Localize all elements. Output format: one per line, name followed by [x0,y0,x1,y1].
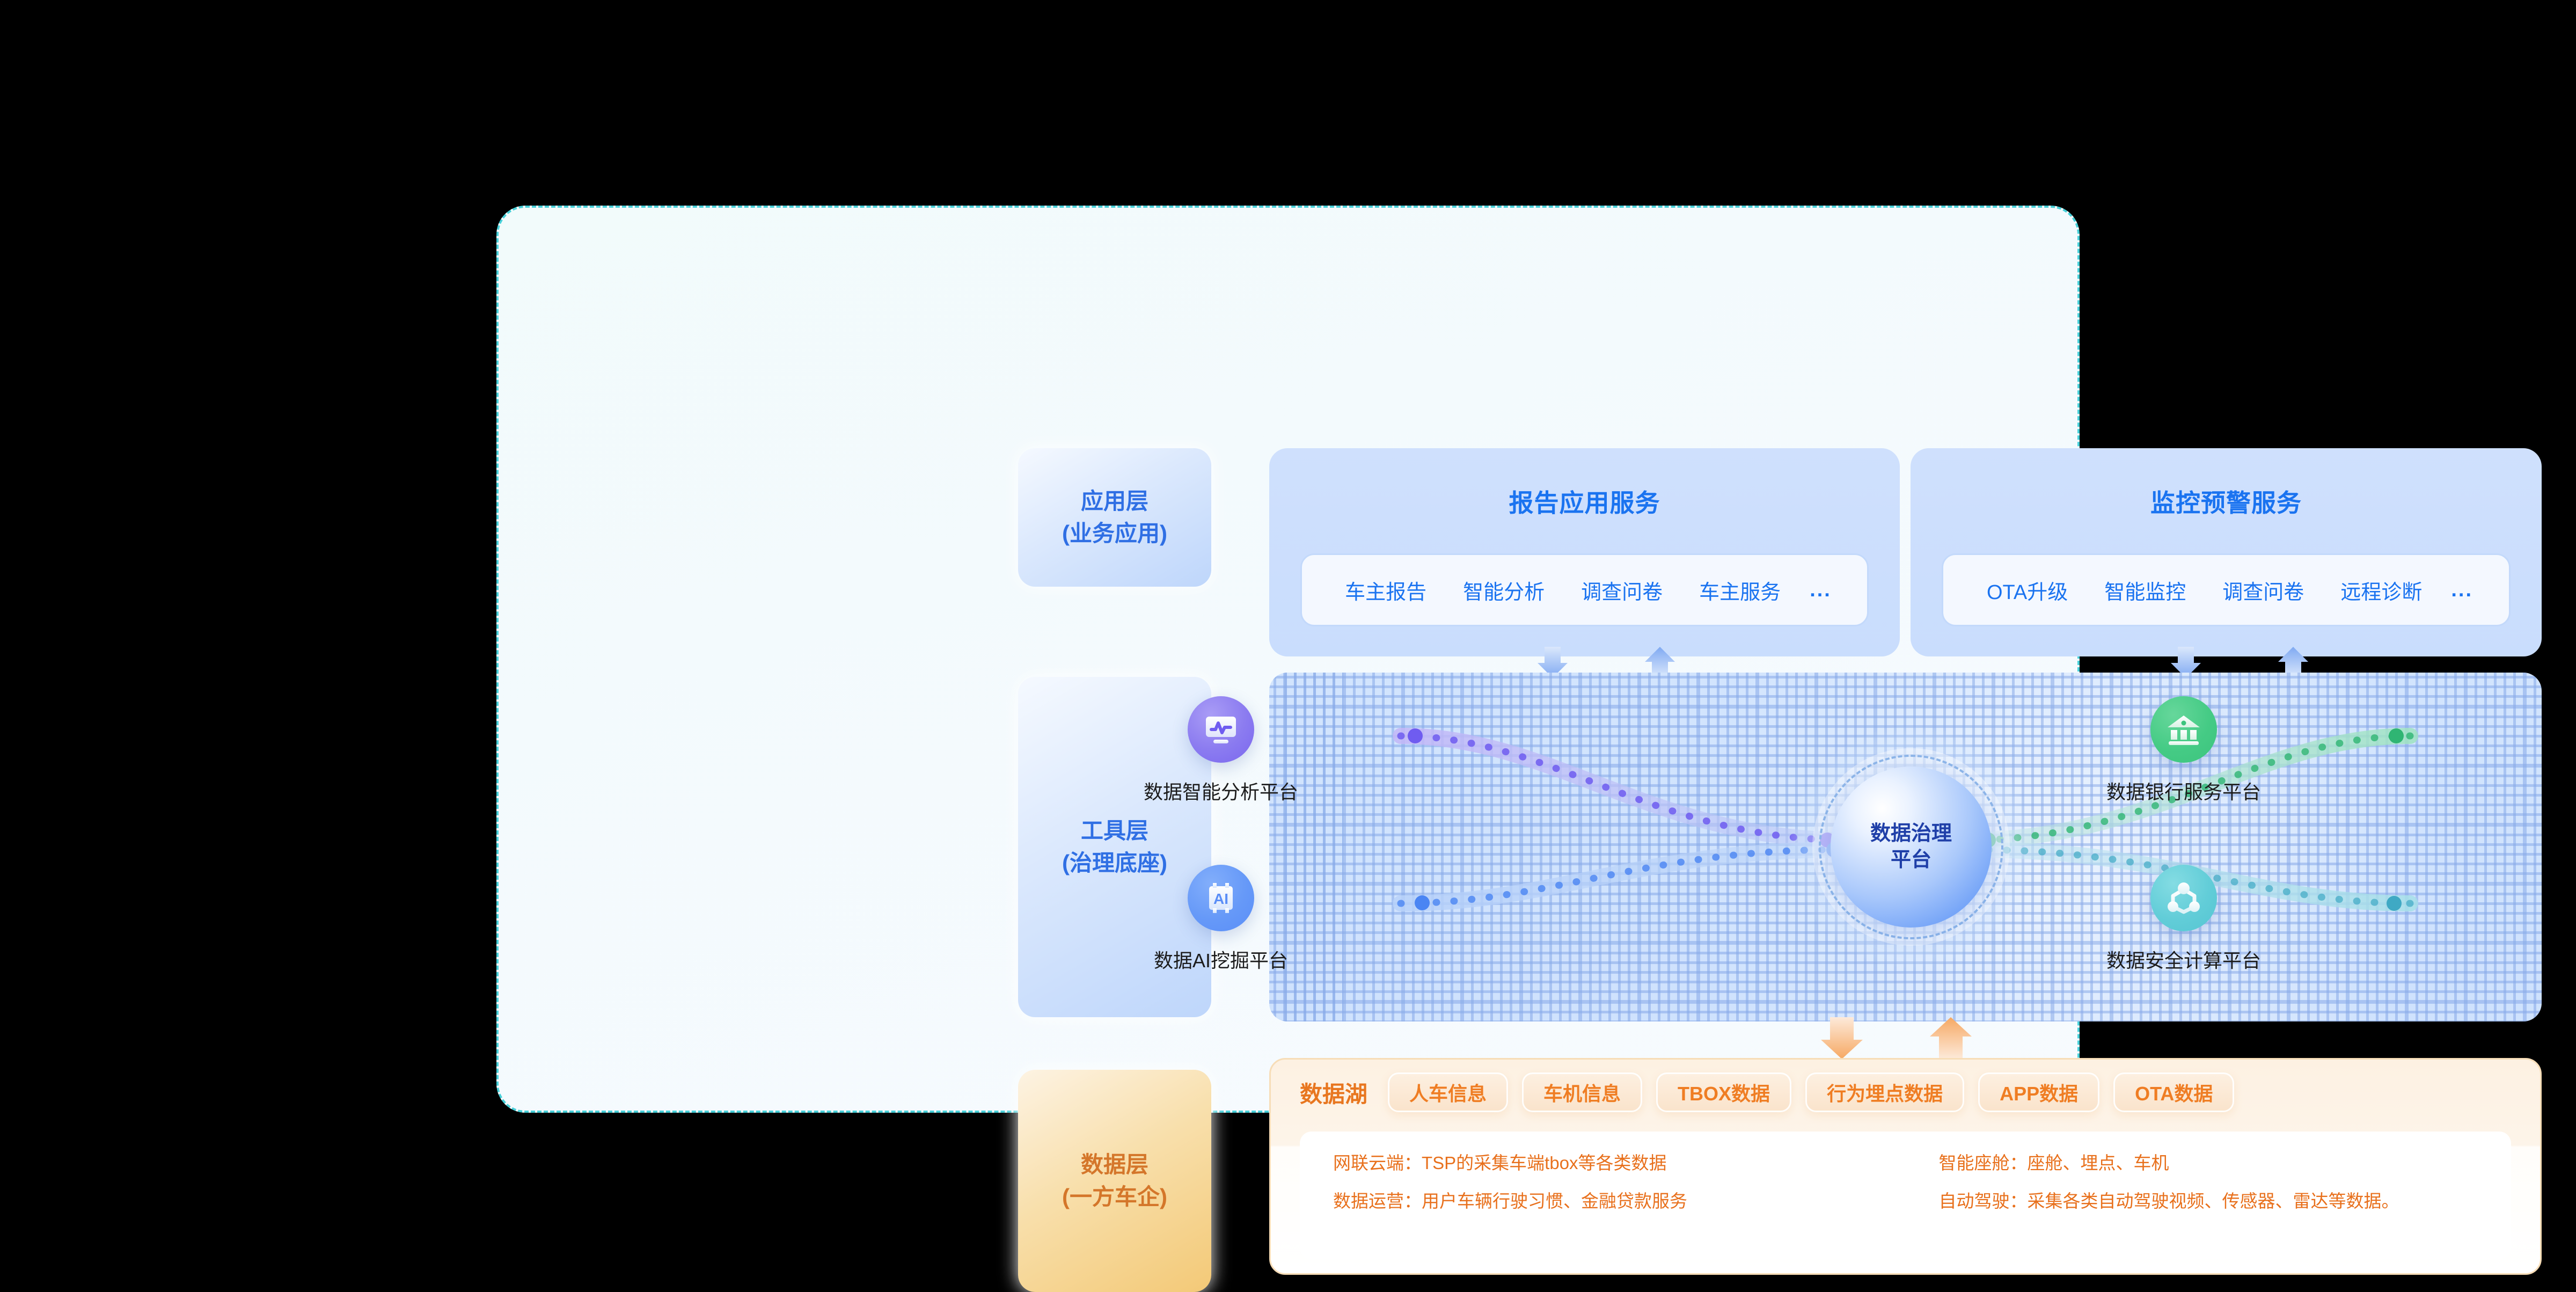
data-note: 网联云端：TSP的采集车端tbox等各类数据 [1333,1154,1906,1172]
app-items-row: 车主报告 智能分析 调查问卷 车主服务 ... [1300,553,1869,626]
data-lake-title: 数据湖 [1300,1076,1367,1109]
secure-nodes-icon [2150,865,2217,931]
layer-data-line2: (一方车企) [1062,1181,1167,1213]
data-lake-tag[interactable]: 车机信息 [1522,1072,1642,1112]
layer-chip-data[interactable]: 数据层 (一方车企) [1018,1070,1211,1292]
app-item[interactable]: 车主服务 [1681,575,1799,605]
data-lake-tag[interactable]: TBOX数据 [1656,1072,1791,1112]
data-note: 数据运营：用户车辆行驶习惯、金融贷款服务 [1333,1192,1906,1210]
core-sphere: 数据治理 平台 [1831,767,1992,928]
arrow-up-orange [1930,1017,1972,1059]
data-notes-left-column: 网联云端：TSP的采集车端tbox等各类数据 数据运营：用户车辆行驶习惯、金融贷… [1300,1154,1906,1259]
app-item[interactable]: 车主报告 [1327,575,1445,605]
app-items-row: OTA升级 智能监控 调查问卷 远程诊断 ... [1942,553,2511,626]
platform-node-label: 数据AI挖掘平台 [1154,945,1288,973]
platform-node-label: 数据银行服务平台 [2106,777,2261,805]
core-label-line2: 平台 [1891,847,1931,873]
tool-layer-panel: 数据治理 平台 [1269,673,2542,1021]
app-item[interactable]: 智能分析 [1445,575,1563,605]
app-item[interactable]: 调查问卷 [1563,575,1681,605]
platform-node-analytics[interactable]: 数据智能分析平台 [1135,696,1307,805]
app-item[interactable]: OTA升级 [1968,575,2086,605]
svg-text:AI: AI [1213,890,1228,907]
layer-data-line1: 数据层 [1081,1149,1148,1181]
ai-chip-icon: AI [1188,865,1254,931]
platform-node-label: 数据智能分析平台 [1144,777,1298,805]
data-lake-tag[interactable]: 人车信息 [1388,1072,1508,1112]
app-item-more[interactable]: ... [1799,579,1842,602]
layer-tool-line1: 工具层 [1081,815,1148,847]
app-item[interactable]: 调查问卷 [2204,575,2322,605]
connector-arrows-tool-data [1269,1017,2542,1060]
data-lake-tag[interactable]: APP数据 [1978,1072,2099,1112]
platform-node-label: 数据安全计算平台 [2106,945,2261,973]
data-note: 自动驾驶：采集各类自动驾驶视频、传感器、雷达等数据。 [1939,1192,2512,1210]
arrow-down-orange [1821,1017,1863,1059]
data-lake-tag[interactable]: 行为埋点数据 [1805,1072,1964,1112]
layer-application-line1: 应用层 [1081,485,1148,517]
core-label-line1: 数据治理 [1870,821,1952,847]
diagram-canvas: 应用层 (业务应用) 工具层 (治理底座) 数据层 (一方车企) 报告应用服务 … [0,0,2576,1288]
data-lake-tag[interactable]: OTA数据 [2113,1072,2234,1112]
app-panel-title: 报告应用服务 [1269,484,1900,519]
platform-node-ai[interactable]: AI 数据AI挖掘平台 [1135,865,1307,973]
layer-application-line2: (业务应用) [1062,517,1167,550]
architecture-board: 应用层 (业务应用) 工具层 (治理底座) 数据层 (一方车企) 报告应用服务 … [496,206,2080,1113]
app-item[interactable]: 远程诊断 [2322,575,2440,605]
data-lake-tags-row: 数据湖 人车信息 车机信息 TBOX数据 行为埋点数据 APP数据 OTA数据 [1271,1060,2540,1125]
bank-building-icon [2150,696,2217,763]
monitor-chart-icon [1188,696,1254,763]
app-item-more[interactable]: ... [2440,579,2484,602]
data-source-notes: 网联云端：TSP的采集车端tbox等各类数据 数据运营：用户车辆行驶习惯、金融贷… [1300,1132,2511,1259]
data-note: 智能座舱：座舱、埋点、车机 [1939,1154,2512,1172]
data-notes-right-column: 智能座舱：座舱、埋点、车机 自动驾驶：采集各类自动驾驶视频、传感器、雷达等数据。 [1906,1154,2512,1259]
core-platform-node[interactable]: 数据治理 平台 [1831,767,1992,928]
layer-chip-application[interactable]: 应用层 (业务应用) [1018,448,1211,587]
platform-node-secure[interactable]: 数据安全计算平台 [2098,865,2270,973]
data-lake-panel: 数据湖 人车信息 车机信息 TBOX数据 行为埋点数据 APP数据 OTA数据 … [1269,1058,2542,1275]
app-service-panel-monitor: 监控预警服务 OTA升级 智能监控 调查问卷 远程诊断 ... [1911,448,2542,656]
app-item[interactable]: 智能监控 [2086,575,2204,605]
platform-node-bank[interactable]: 数据银行服务平台 [2098,696,2270,805]
app-service-panel-report: 报告应用服务 车主报告 智能分析 调查问卷 车主服务 ... [1269,448,1900,656]
app-panel-title: 监控预警服务 [1911,484,2542,519]
